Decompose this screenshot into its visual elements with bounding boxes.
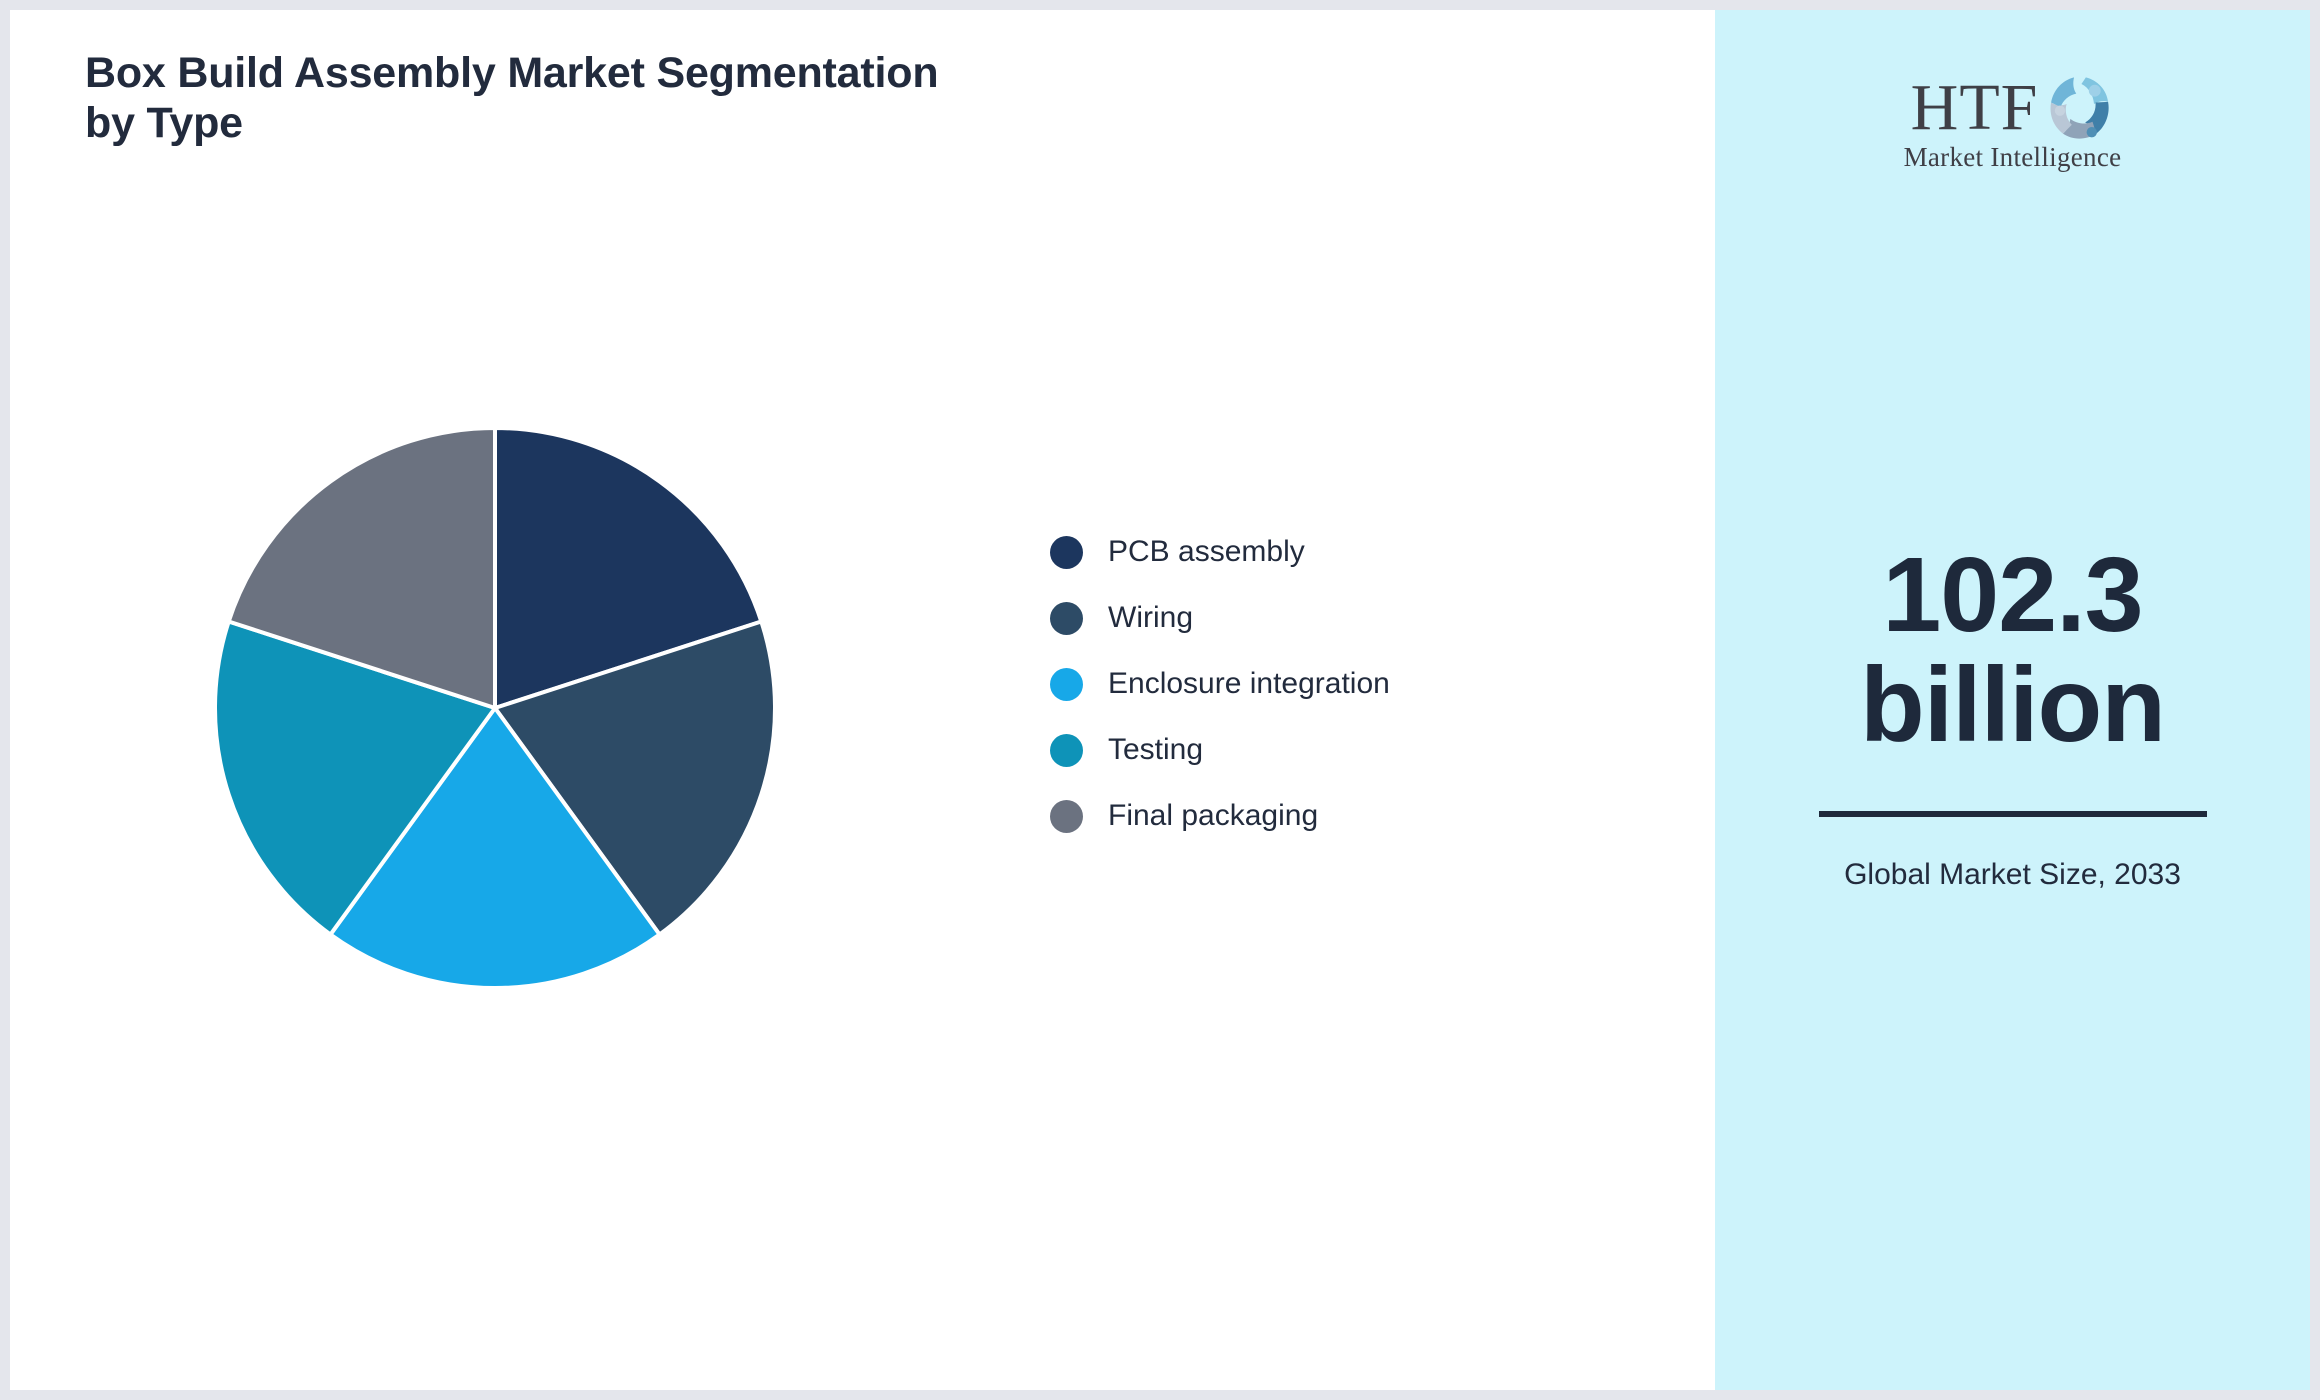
legend-item-label: PCB assembly [1108, 537, 1305, 567]
stat-caption: Global Market Size, 2033 [1843, 855, 2183, 896]
logo-wordmark: HTF [1911, 77, 2039, 140]
htf-emblem-icon [2040, 70, 2114, 144]
legend-item-label: Enclosure integration [1108, 669, 1390, 699]
legend-swatch-icon [1050, 734, 1083, 767]
legend-item: Enclosure integration [1050, 664, 1390, 704]
page-title: Box Build Assembly Market Segmentation b… [85, 48, 985, 149]
legend-item-label: Testing [1108, 735, 1203, 765]
pie-chart-svg [205, 418, 785, 998]
logo-tagline: Market Intelligence [1904, 142, 2122, 173]
legend-item: Final packaging [1050, 796, 1390, 836]
legend-swatch-icon [1050, 536, 1083, 569]
legend-swatch-icon [1050, 668, 1083, 701]
stat-panel: HTF Market Intelligence 102.3 billion Gl… [1715, 10, 2310, 1390]
chart-legend: PCB assemblyWiringEnclosure integrationT… [1050, 532, 1390, 836]
pie-chart [205, 418, 785, 998]
pie-slices [215, 428, 775, 988]
htf-logo: HTF Market Intelligence [1715, 68, 2310, 173]
legend-item: Testing [1050, 730, 1390, 770]
legend-item: PCB assembly [1050, 532, 1390, 572]
stat-divider [1819, 811, 2207, 817]
infographic-card: Box Build Assembly Market Segmentation b… [0, 0, 2320, 1400]
stat-value: 102.3 billion [1798, 540, 2228, 760]
logo-row: HTF [1911, 68, 2115, 140]
legend-item-label: Final packaging [1108, 801, 1318, 831]
legend-swatch-icon [1050, 602, 1083, 635]
legend-item-label: Wiring [1108, 603, 1193, 633]
legend-swatch-icon [1050, 800, 1083, 833]
stat-block: 102.3 billion Global Market Size, 2033 [1715, 540, 2310, 896]
chart-panel: Box Build Assembly Market Segmentation b… [10, 10, 1715, 1390]
legend-item: Wiring [1050, 598, 1390, 638]
